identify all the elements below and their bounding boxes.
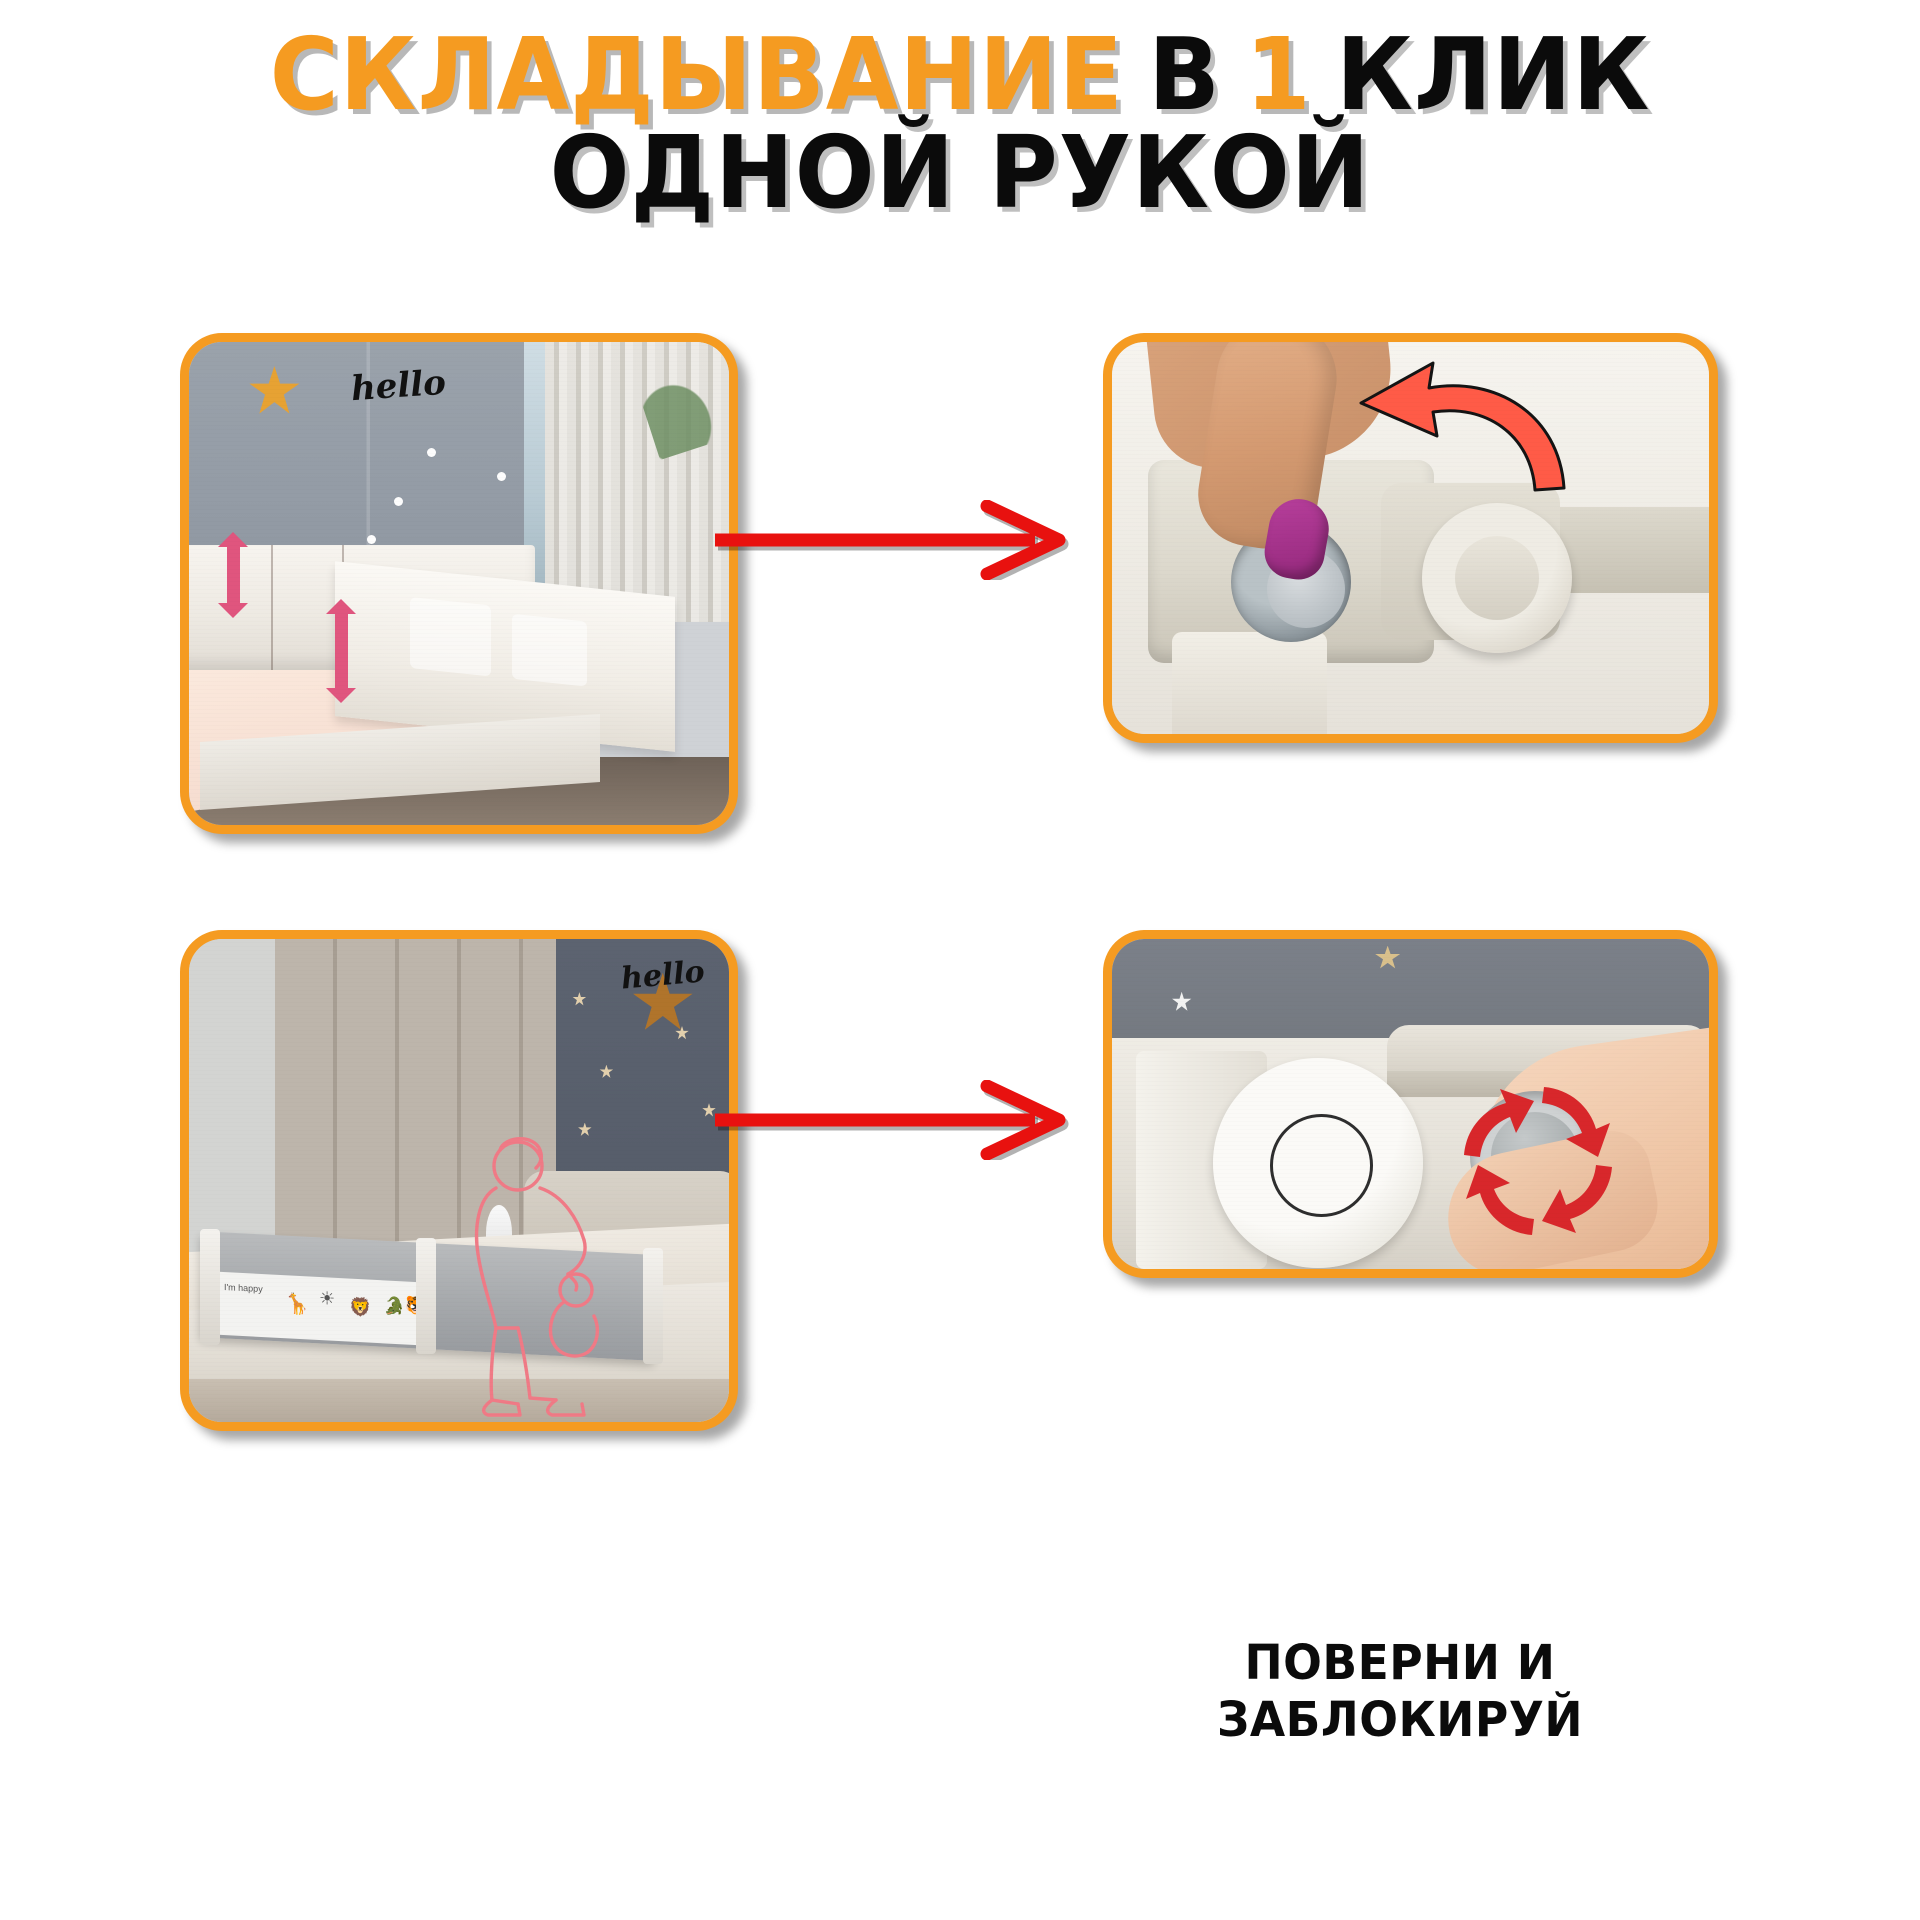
rail-post-left xyxy=(200,1229,220,1345)
caption-line-1: ПОВЕРНИ И xyxy=(1020,1635,1780,1692)
title-line-1: СКЛАДЫВАНИЕВ1КЛИК xyxy=(58,26,1863,124)
rotate-arrows-icon xyxy=(1458,1081,1618,1241)
arrow-bl-to-br xyxy=(715,1080,1115,1160)
caption-rotate-and-lock: ПОВЕРНИ И ЗАБЛОКИРУЙ xyxy=(1020,1635,1780,1748)
up-down-arrow-icon xyxy=(335,612,348,690)
wall-dot xyxy=(394,497,403,506)
title-line-2: ОДНОЙ РУКОЙ xyxy=(58,124,1863,222)
photo-panel-press-button xyxy=(1103,333,1718,743)
sun-icon: ☀ xyxy=(319,1288,335,1310)
wall-hello-text: hello xyxy=(350,363,447,410)
lock-disc xyxy=(1422,503,1572,653)
photo-panel-rotate-lock xyxy=(1103,930,1718,1278)
up-down-arrow-icon xyxy=(227,545,240,605)
giraffe-icon: 🦒 xyxy=(284,1292,309,1318)
rail-pocket xyxy=(410,596,492,676)
rail-pocket xyxy=(512,613,587,686)
rail-post xyxy=(1172,632,1327,734)
photo-panel-bed-rail-overview: hello xyxy=(180,333,738,834)
animal-decal-panel: I'm happy 🦒 ☀ 🦁 🐊 🐯 xyxy=(211,1271,427,1345)
lock-disc xyxy=(1213,1058,1423,1268)
photo-panel-rail-installed: hello I'm happy 🦒 ☀ 🦁 🐊 🐯 xyxy=(180,930,738,1431)
crocodile-icon: 🐊 xyxy=(383,1297,404,1318)
decal-text-im-happy: I'm happy xyxy=(224,1282,263,1294)
mother-baby-outline-icon xyxy=(448,1132,678,1422)
arrow-tl-to-tr xyxy=(715,500,1115,580)
page-title: СКЛАДЫВАНИЕВ1КЛИК ОДНОЙ РУКОЙ xyxy=(0,26,1920,222)
caption-line-2: ЗАБЛОКИРУЙ xyxy=(1020,1692,1780,1749)
wall-dot xyxy=(427,448,436,457)
title-word-klik: КЛИК xyxy=(1336,16,1650,133)
rail-post-mid xyxy=(416,1238,436,1354)
curved-arrow-icon xyxy=(1309,358,1569,508)
lion-icon: 🦁 xyxy=(349,1296,371,1318)
